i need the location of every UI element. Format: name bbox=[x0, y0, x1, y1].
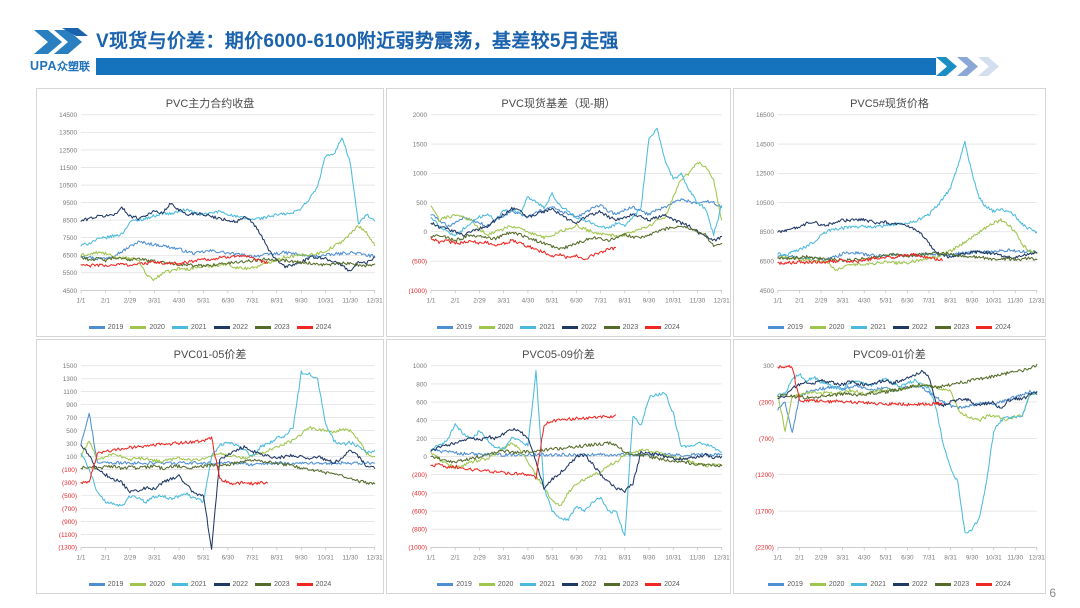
x-axis-tick-label: 10/31 bbox=[986, 554, 1003, 561]
legend-item-2019: 2019 bbox=[437, 581, 472, 588]
legend-item-2023: 2023 bbox=[255, 581, 290, 588]
legend-item-2022: 2022 bbox=[562, 324, 597, 331]
series-line-2019 bbox=[431, 449, 722, 457]
x-axis-tick-label: 1/1 bbox=[77, 297, 86, 304]
y-axis-tick-label: (1000) bbox=[408, 545, 427, 552]
x-axis-tick-label: 2/1 bbox=[451, 297, 460, 304]
legend-label: 2021 bbox=[539, 581, 555, 588]
y-axis-tick-label: (700) bbox=[759, 436, 774, 443]
x-axis-tick-label: 5/31 bbox=[880, 297, 893, 304]
x-axis-tick-label: 6/30 bbox=[901, 297, 914, 304]
series-line-2024 bbox=[81, 437, 267, 485]
legend-item-2022: 2022 bbox=[893, 324, 928, 331]
x-axis-tick-label: 2/1 bbox=[795, 297, 804, 304]
y-axis-tick-label: (700) bbox=[62, 506, 77, 513]
legend-item-2022: 2022 bbox=[562, 581, 597, 588]
x-axis-tick-label: 6/30 bbox=[901, 554, 914, 561]
x-axis-tick-label: 7/31 bbox=[923, 554, 936, 561]
x-axis-tick-label: 11/30 bbox=[690, 297, 706, 304]
x-axis-tick-label: 10/31 bbox=[665, 297, 682, 304]
y-axis-tick-label: (2200) bbox=[755, 545, 774, 552]
x-axis-tick-label: 9/30 bbox=[966, 297, 979, 304]
y-axis-tick-label: (900) bbox=[62, 519, 77, 526]
legend-label: 2021 bbox=[870, 581, 886, 588]
chart-plot: 450065008500105001250014500165001/12/12/… bbox=[734, 89, 1045, 336]
x-axis-tick-label: 10/31 bbox=[986, 297, 1003, 304]
legend-item-2019: 2019 bbox=[437, 324, 472, 331]
legend-item-2022: 2022 bbox=[214, 581, 249, 588]
y-axis-tick-label: (300) bbox=[62, 480, 77, 487]
x-axis-tick-label: 3/31 bbox=[836, 554, 849, 561]
legend-item-2021: 2021 bbox=[172, 581, 207, 588]
x-axis-tick-label: 8/31 bbox=[619, 554, 632, 561]
y-axis-tick-label: 1000 bbox=[413, 363, 428, 370]
legend-item-2021: 2021 bbox=[172, 324, 207, 331]
x-axis-tick-label: 12/31 bbox=[1029, 554, 1045, 561]
legend-swatch bbox=[604, 583, 620, 586]
x-axis-tick-label: 2/29 bbox=[124, 554, 137, 561]
x-axis-tick-label: 1/1 bbox=[773, 554, 782, 561]
x-axis-tick-label: 10/31 bbox=[318, 554, 335, 561]
chart-plot: (1300)(1100)(900)(700)(500)(300)(100)100… bbox=[37, 340, 383, 593]
x-axis-tick-label: 5/31 bbox=[546, 554, 559, 561]
chart-panel-pvc-09-01-spread: PVC09-01价差 (2200)(1700)(1200)(700)(200)3… bbox=[733, 339, 1046, 594]
chart-plot: (1000)(800)(600)(400)(200)02004006008001… bbox=[387, 340, 730, 593]
legend-swatch bbox=[520, 583, 536, 586]
legend-label: 2020 bbox=[829, 324, 845, 331]
legend-item-2020: 2020 bbox=[479, 581, 514, 588]
x-axis-tick-label: 9/30 bbox=[966, 554, 979, 561]
legend-item-2022: 2022 bbox=[214, 324, 249, 331]
x-axis-tick-label: 2/1 bbox=[101, 554, 110, 561]
y-axis-tick-label: 4500 bbox=[760, 288, 775, 295]
y-axis-tick-label: (500) bbox=[62, 493, 77, 500]
series-line-2020 bbox=[81, 427, 375, 463]
legend-swatch bbox=[479, 326, 495, 329]
legend-swatch bbox=[976, 583, 992, 586]
x-axis-tick-label: 4/30 bbox=[173, 554, 186, 561]
y-axis-tick-label: 4500 bbox=[63, 288, 78, 295]
y-axis-tick-label: 600 bbox=[416, 399, 427, 406]
series-line-2020 bbox=[431, 443, 722, 506]
y-axis-tick-label: 400 bbox=[416, 418, 427, 425]
x-axis-tick-label: 5/31 bbox=[546, 297, 559, 304]
legend-label: 2019 bbox=[456, 581, 472, 588]
x-axis-tick-label: 2/29 bbox=[815, 554, 828, 561]
chart-legend: 201920202021202220232024 bbox=[734, 324, 1045, 331]
legend-item-2021: 2021 bbox=[851, 581, 886, 588]
series-line-2022 bbox=[81, 445, 375, 549]
x-axis-tick-label: 6/30 bbox=[570, 554, 583, 561]
legend-swatch bbox=[810, 326, 826, 329]
x-axis-tick-label: 5/31 bbox=[197, 554, 210, 561]
legend-swatch bbox=[172, 326, 188, 329]
legend-item-2021: 2021 bbox=[520, 581, 555, 588]
x-axis-tick-label: 1/1 bbox=[427, 554, 436, 561]
legend-label: 2019 bbox=[787, 581, 803, 588]
y-axis-tick-label: 16500 bbox=[756, 112, 774, 119]
y-axis-tick-label: 300 bbox=[763, 363, 774, 370]
chart-panel-pvc-main-contract-close: PVC主力合约收盘 450055006500750085009500105001… bbox=[36, 88, 384, 337]
y-axis-tick-label: (600) bbox=[412, 508, 427, 515]
legend-item-2020: 2020 bbox=[810, 324, 845, 331]
legend-label: 2024 bbox=[995, 581, 1011, 588]
x-axis-tick-label: 8/31 bbox=[271, 554, 284, 561]
x-axis-tick-label: 12/31 bbox=[714, 297, 730, 304]
y-axis-tick-label: 500 bbox=[66, 428, 77, 435]
y-axis-tick-label: 0 bbox=[423, 454, 427, 461]
legend-label: 2019 bbox=[787, 324, 803, 331]
legend-label: 2023 bbox=[954, 581, 970, 588]
y-axis-tick-label: 8500 bbox=[63, 218, 78, 225]
legend-item-2023: 2023 bbox=[935, 581, 970, 588]
x-axis-tick-label: 7/31 bbox=[594, 297, 607, 304]
x-axis-tick-label: 3/31 bbox=[497, 554, 510, 561]
legend-swatch bbox=[255, 583, 271, 586]
x-axis-tick-label: 4/30 bbox=[858, 554, 871, 561]
x-axis-tick-label: 1/1 bbox=[77, 554, 86, 561]
brand-logo: UPA众塑联 bbox=[14, 26, 106, 82]
legend-item-2024: 2024 bbox=[645, 324, 680, 331]
x-axis-tick-label: 3/31 bbox=[148, 297, 161, 304]
chevron-accent-3-icon bbox=[978, 57, 1000, 76]
x-axis-tick-label: 8/31 bbox=[944, 297, 957, 304]
y-axis-tick-label: (500) bbox=[412, 258, 427, 265]
legend-swatch bbox=[768, 583, 784, 586]
legend-label: 2024 bbox=[995, 324, 1011, 331]
y-axis-tick-label: 300 bbox=[66, 441, 77, 448]
chart-panel-pvc5-spot-price: PVC5#现货价格 450065008500105001250014500165… bbox=[733, 88, 1046, 337]
y-axis-tick-label: 7500 bbox=[63, 235, 78, 242]
y-axis-tick-label: (1300) bbox=[58, 545, 77, 552]
legend-item-2019: 2019 bbox=[768, 581, 803, 588]
chart-plot: (2200)(1700)(1200)(700)(200)3001/12/12/2… bbox=[734, 340, 1045, 593]
legend-item-2024: 2024 bbox=[645, 581, 680, 588]
x-axis-tick-label: 11/30 bbox=[690, 554, 706, 561]
legend-item-2019: 2019 bbox=[89, 581, 124, 588]
y-axis-tick-label: (1200) bbox=[755, 472, 774, 479]
x-axis-tick-label: 12/31 bbox=[1029, 297, 1045, 304]
x-axis-tick-label: 1/1 bbox=[427, 297, 436, 304]
legend-swatch bbox=[562, 583, 578, 586]
legend-item-2019: 2019 bbox=[89, 324, 124, 331]
x-axis-tick-label: 2/1 bbox=[451, 554, 460, 561]
legend-item-2021: 2021 bbox=[851, 324, 886, 331]
series-line-2022 bbox=[81, 203, 375, 271]
legend-swatch bbox=[437, 326, 453, 329]
legend-swatch bbox=[562, 326, 578, 329]
y-axis-tick-label: 10500 bbox=[756, 200, 774, 207]
legend-label: 2023 bbox=[623, 324, 639, 331]
legend-label: 2024 bbox=[664, 324, 680, 331]
series-line-2024 bbox=[431, 415, 616, 479]
series-line-2023 bbox=[81, 257, 375, 268]
legend-item-2022: 2022 bbox=[893, 581, 928, 588]
legend-label: 2020 bbox=[498, 581, 514, 588]
legend-swatch bbox=[130, 326, 146, 329]
chart-plot: 4500550065007500850095001050011500125001… bbox=[37, 89, 383, 336]
y-axis-tick-label: 700 bbox=[66, 415, 77, 422]
legend-swatch bbox=[479, 583, 495, 586]
x-axis-tick-label: 3/31 bbox=[836, 297, 849, 304]
y-axis-tick-label: 5500 bbox=[63, 270, 78, 277]
x-axis-tick-label: 8/31 bbox=[271, 297, 284, 304]
x-axis-tick-label: 7/31 bbox=[594, 554, 607, 561]
legend-label: 2022 bbox=[233, 324, 249, 331]
y-axis-tick-label: (100) bbox=[62, 467, 77, 474]
legend-label: 2022 bbox=[581, 581, 597, 588]
legend-swatch bbox=[520, 326, 536, 329]
legend-swatch bbox=[768, 326, 784, 329]
legend-swatch bbox=[130, 583, 146, 586]
x-axis-tick-label: 2/29 bbox=[473, 297, 486, 304]
x-axis-tick-label: 12/31 bbox=[367, 554, 383, 561]
x-axis-tick-label: 7/31 bbox=[246, 297, 259, 304]
y-axis-tick-label: (200) bbox=[412, 472, 427, 479]
x-axis-tick-label: 5/31 bbox=[197, 297, 210, 304]
legend-label: 2022 bbox=[912, 581, 928, 588]
legend-swatch bbox=[976, 326, 992, 329]
y-axis-tick-label: 1300 bbox=[63, 376, 78, 383]
legend-label: 2021 bbox=[191, 324, 207, 331]
y-axis-tick-label: (800) bbox=[412, 527, 427, 534]
double-chevron-logo-icon bbox=[32, 26, 90, 58]
legend-swatch bbox=[893, 583, 909, 586]
title-underline-bar bbox=[96, 58, 936, 75]
chart-legend: 201920202021202220232024 bbox=[37, 581, 383, 588]
legend-swatch bbox=[214, 326, 230, 329]
x-axis-tick-label: 8/31 bbox=[944, 554, 957, 561]
x-axis-tick-label: 6/30 bbox=[222, 554, 235, 561]
legend-label: 2023 bbox=[623, 581, 639, 588]
y-axis-tick-label: 13500 bbox=[59, 130, 77, 137]
legend-swatch bbox=[172, 583, 188, 586]
y-axis-tick-label: 1500 bbox=[63, 363, 78, 370]
legend-label: 2021 bbox=[539, 324, 555, 331]
legend-swatch bbox=[255, 326, 271, 329]
x-axis-tick-label: 4/30 bbox=[858, 297, 871, 304]
y-axis-tick-label: 100 bbox=[66, 454, 77, 461]
y-axis-tick-label: (1000) bbox=[408, 288, 427, 295]
x-axis-tick-label: 11/30 bbox=[342, 297, 358, 304]
x-axis-tick-label: 4/30 bbox=[173, 297, 186, 304]
page-title: V现货与价差：期价6000-6100附近弱势震荡，基差较5月走强 bbox=[96, 26, 619, 53]
y-axis-tick-label: 10500 bbox=[59, 182, 77, 189]
x-axis-tick-label: 2/1 bbox=[795, 554, 804, 561]
legend-label: 2024 bbox=[316, 324, 332, 331]
x-axis-tick-label: 3/31 bbox=[148, 554, 161, 561]
legend-label: 2022 bbox=[581, 324, 597, 331]
x-axis-tick-label: 2/29 bbox=[473, 554, 486, 561]
page-number: 6 bbox=[1049, 586, 1056, 600]
x-axis-tick-label: 2/29 bbox=[815, 297, 828, 304]
y-axis-tick-label: 14500 bbox=[59, 112, 77, 119]
legend-swatch bbox=[645, 583, 661, 586]
legend-swatch bbox=[89, 583, 105, 586]
legend-item-2020: 2020 bbox=[479, 324, 514, 331]
x-axis-tick-label: 6/30 bbox=[570, 297, 583, 304]
chart-legend: 201920202021202220232024 bbox=[37, 324, 383, 331]
legend-label: 2023 bbox=[954, 324, 970, 331]
legend-item-2024: 2024 bbox=[976, 581, 1011, 588]
x-axis-tick-label: 8/31 bbox=[619, 297, 632, 304]
y-axis-tick-label: 1000 bbox=[413, 171, 428, 178]
x-axis-tick-label: 12/31 bbox=[714, 554, 730, 561]
y-axis-tick-label: 8500 bbox=[760, 229, 775, 236]
legend-label: 2023 bbox=[274, 581, 290, 588]
slide-header: UPA众塑联 V现货与价差：期价6000-6100附近弱势震荡，基差较5月走强 bbox=[0, 22, 1080, 84]
y-axis-tick-label: 12500 bbox=[59, 147, 77, 154]
legend-item-2019: 2019 bbox=[768, 324, 803, 331]
x-axis-tick-label: 9/30 bbox=[295, 554, 308, 561]
chevron-accent-1-icon bbox=[936, 57, 958, 76]
y-axis-tick-label: 9500 bbox=[63, 200, 78, 207]
legend-label: 2020 bbox=[829, 581, 845, 588]
series-line-2022 bbox=[778, 218, 1037, 258]
x-axis-tick-label: 7/31 bbox=[246, 554, 259, 561]
legend-label: 2021 bbox=[191, 581, 207, 588]
y-axis-tick-label: 200 bbox=[416, 436, 427, 443]
legend-swatch bbox=[935, 583, 951, 586]
x-axis-tick-label: 10/31 bbox=[665, 554, 682, 561]
chart-plot: (1000)(500)05001000150020001/12/12/293/3… bbox=[387, 89, 730, 336]
chart-legend: 201920202021202220232024 bbox=[387, 581, 730, 588]
legend-item-2024: 2024 bbox=[297, 324, 332, 331]
series-line-2024 bbox=[431, 238, 616, 260]
y-axis-tick-label: (1700) bbox=[755, 508, 774, 515]
y-axis-tick-label: (1100) bbox=[59, 532, 77, 539]
x-axis-tick-label: 11/30 bbox=[1007, 297, 1023, 304]
legend-label: 2020 bbox=[498, 324, 514, 331]
x-axis-tick-label: 10/31 bbox=[318, 297, 335, 304]
x-axis-tick-label: 11/30 bbox=[1007, 554, 1023, 561]
x-axis-tick-label: 4/30 bbox=[522, 297, 535, 304]
legend-label: 2019 bbox=[108, 581, 124, 588]
legend-item-2023: 2023 bbox=[255, 324, 290, 331]
chart-legend: 201920202021202220232024 bbox=[734, 581, 1045, 588]
legend-swatch bbox=[214, 583, 230, 586]
legend-label: 2019 bbox=[456, 324, 472, 331]
y-axis-tick-label: 0 bbox=[423, 229, 427, 236]
slide-root: UPA众塑联 V现货与价差：期价6000-6100附近弱势震荡，基差较5月走强 … bbox=[0, 0, 1080, 608]
y-axis-tick-label: 6500 bbox=[760, 258, 775, 265]
legend-label: 2021 bbox=[870, 324, 886, 331]
series-line-2021 bbox=[431, 128, 722, 236]
y-axis-tick-label: 1100 bbox=[63, 389, 77, 396]
legend-swatch bbox=[604, 326, 620, 329]
y-axis-tick-label: 14500 bbox=[756, 141, 774, 148]
brand-abbr: UPA bbox=[30, 59, 57, 73]
legend-label: 2022 bbox=[912, 324, 928, 331]
y-axis-tick-label: 1500 bbox=[413, 141, 428, 148]
x-axis-tick-label: 5/31 bbox=[880, 554, 893, 561]
series-line-2020 bbox=[81, 226, 375, 281]
chart-legend: 201920202021202220232024 bbox=[387, 324, 730, 331]
chart-panel-pvc-01-05-spread: PVC01-05价差 (1300)(1100)(900)(700)(500)(3… bbox=[36, 339, 384, 594]
brand-cn: 众塑联 bbox=[57, 61, 90, 73]
legend-item-2023: 2023 bbox=[604, 324, 639, 331]
legend-item-2024: 2024 bbox=[297, 581, 332, 588]
legend-label: 2024 bbox=[316, 581, 332, 588]
legend-swatch bbox=[437, 583, 453, 586]
legend-label: 2022 bbox=[233, 581, 249, 588]
legend-swatch bbox=[89, 326, 105, 329]
y-axis-tick-label: 500 bbox=[416, 200, 427, 207]
chart-grid: PVC主力合约收盘 450055006500750085009500105001… bbox=[36, 88, 1046, 594]
y-axis-tick-label: (200) bbox=[759, 399, 774, 406]
chevron-accent-2-icon bbox=[957, 57, 979, 76]
legend-swatch bbox=[810, 583, 826, 586]
chart-panel-pvc-05-09-spread: PVC05-09价差 (1000)(800)(600)(400)(200)020… bbox=[386, 339, 731, 594]
x-axis-tick-label: 4/30 bbox=[522, 554, 535, 561]
legend-swatch bbox=[297, 583, 313, 586]
x-axis-tick-label: 12/31 bbox=[367, 297, 383, 304]
y-axis-tick-label: (400) bbox=[412, 490, 427, 497]
y-axis-tick-label: 12500 bbox=[756, 171, 774, 178]
x-axis-tick-label: 7/31 bbox=[923, 297, 936, 304]
series-line-2021 bbox=[81, 138, 375, 246]
legend-swatch bbox=[893, 326, 909, 329]
legend-swatch bbox=[851, 583, 867, 586]
x-axis-tick-label: 11/30 bbox=[342, 554, 358, 561]
y-axis-tick-label: 6500 bbox=[63, 253, 78, 260]
x-axis-tick-label: 1/1 bbox=[773, 297, 782, 304]
x-axis-tick-label: 9/30 bbox=[643, 554, 656, 561]
x-axis-tick-label: 2/29 bbox=[124, 297, 137, 304]
legend-label: 2019 bbox=[108, 324, 124, 331]
legend-item-2024: 2024 bbox=[976, 324, 1011, 331]
x-axis-tick-label: 3/31 bbox=[497, 297, 510, 304]
legend-item-2020: 2020 bbox=[810, 581, 845, 588]
y-axis-tick-label: 800 bbox=[416, 381, 427, 388]
legend-label: 2024 bbox=[664, 581, 680, 588]
y-axis-tick-label: 2000 bbox=[413, 112, 428, 119]
legend-swatch bbox=[935, 326, 951, 329]
x-axis-tick-label: 2/1 bbox=[101, 297, 110, 304]
x-axis-tick-label: 9/30 bbox=[643, 297, 656, 304]
legend-label: 2020 bbox=[149, 581, 165, 588]
x-axis-tick-label: 9/30 bbox=[295, 297, 308, 304]
legend-swatch bbox=[851, 326, 867, 329]
legend-item-2023: 2023 bbox=[604, 581, 639, 588]
legend-swatch bbox=[645, 326, 661, 329]
legend-label: 2020 bbox=[149, 324, 165, 331]
legend-swatch bbox=[297, 326, 313, 329]
chart-panel-pvc-spot-basis: PVC现货基差（现-期） (1000)(500)0500100015002000… bbox=[386, 88, 731, 337]
legend-item-2020: 2020 bbox=[130, 324, 165, 331]
legend-item-2023: 2023 bbox=[935, 324, 970, 331]
series-line-2021 bbox=[778, 141, 1037, 255]
legend-label: 2023 bbox=[274, 324, 290, 331]
brand-logo-text: UPA众塑联 bbox=[14, 58, 106, 74]
series-line-2023 bbox=[431, 226, 722, 250]
y-axis-tick-label: 11500 bbox=[60, 165, 78, 172]
legend-item-2021: 2021 bbox=[520, 324, 555, 331]
y-axis-tick-label: 900 bbox=[66, 402, 77, 409]
series-line-2023 bbox=[778, 252, 1037, 262]
x-axis-tick-label: 6/30 bbox=[222, 297, 235, 304]
legend-item-2020: 2020 bbox=[130, 581, 165, 588]
